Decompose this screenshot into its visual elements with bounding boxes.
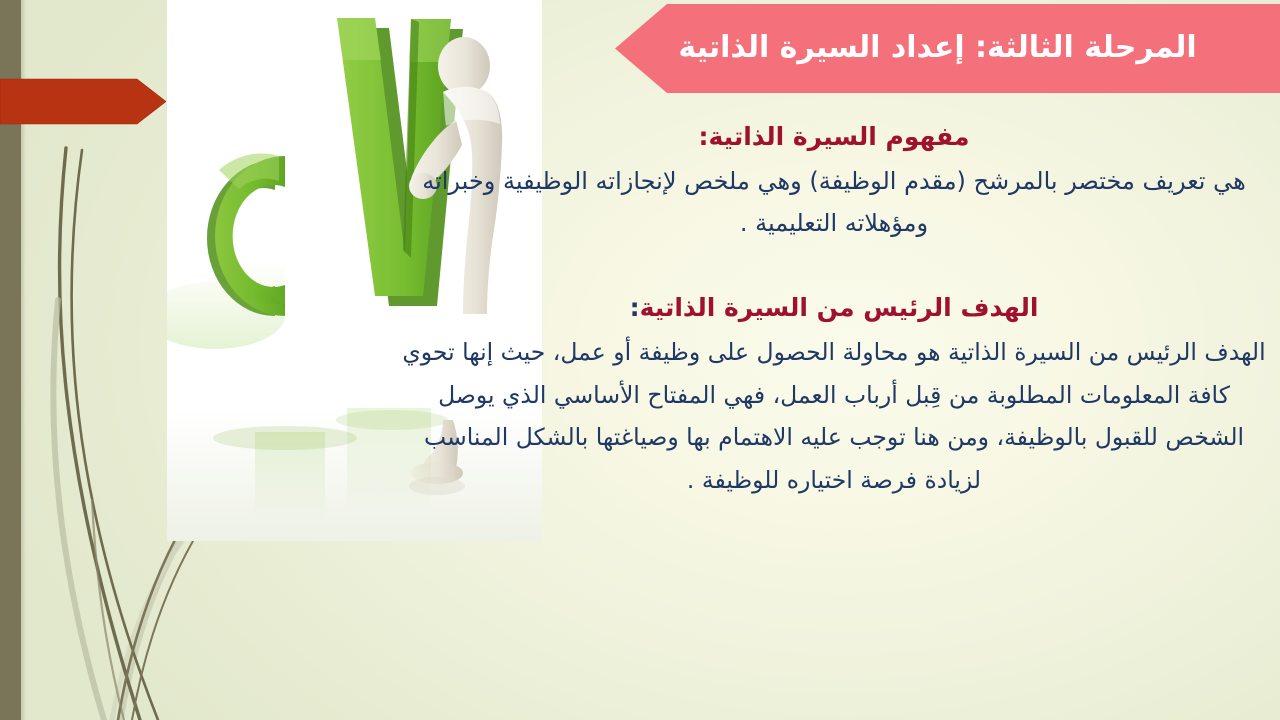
section-spacer — [398, 245, 1270, 291]
slide-title-text: المرحلة الثالثة: إعداد السيرة الذاتية — [678, 31, 1196, 66]
section-1-body: هي تعريف مختصر بالمرشح (مقدم الوظيفة) وه… — [398, 160, 1270, 245]
slide-title-banner: المرحلة الثالثة: إعداد السيرة الذاتية — [615, 4, 1280, 93]
section-cv-main-goal: الهدف الرئيس من السيرة الذاتية: الهدف ال… — [398, 291, 1270, 502]
section-2-heading-colon: : — [630, 293, 640, 322]
section-2-heading: الهدف الرئيس من السيرة الذاتية — [640, 293, 1039, 322]
slide-canvas: المرحلة الثالثة: إعداد السيرة الذاتية مف… — [0, 0, 1280, 720]
section-cv-concept: مفهوم السيرة الذاتية: هي تعريف مختصر بال… — [398, 120, 1270, 245]
section-2-body: الهدف الرئيس من السيرة الذاتية هو محاولة… — [398, 331, 1270, 502]
section-2-heading-wrapper: الهدف الرئيس من السيرة الذاتية: — [398, 291, 1270, 325]
section-1-heading: مفهوم السيرة الذاتية: — [398, 120, 1270, 154]
red-arrow-icon — [0, 77, 166, 126]
slide-body-content: مفهوم السيرة الذاتية: هي تعريف مختصر بال… — [380, 120, 1280, 502]
